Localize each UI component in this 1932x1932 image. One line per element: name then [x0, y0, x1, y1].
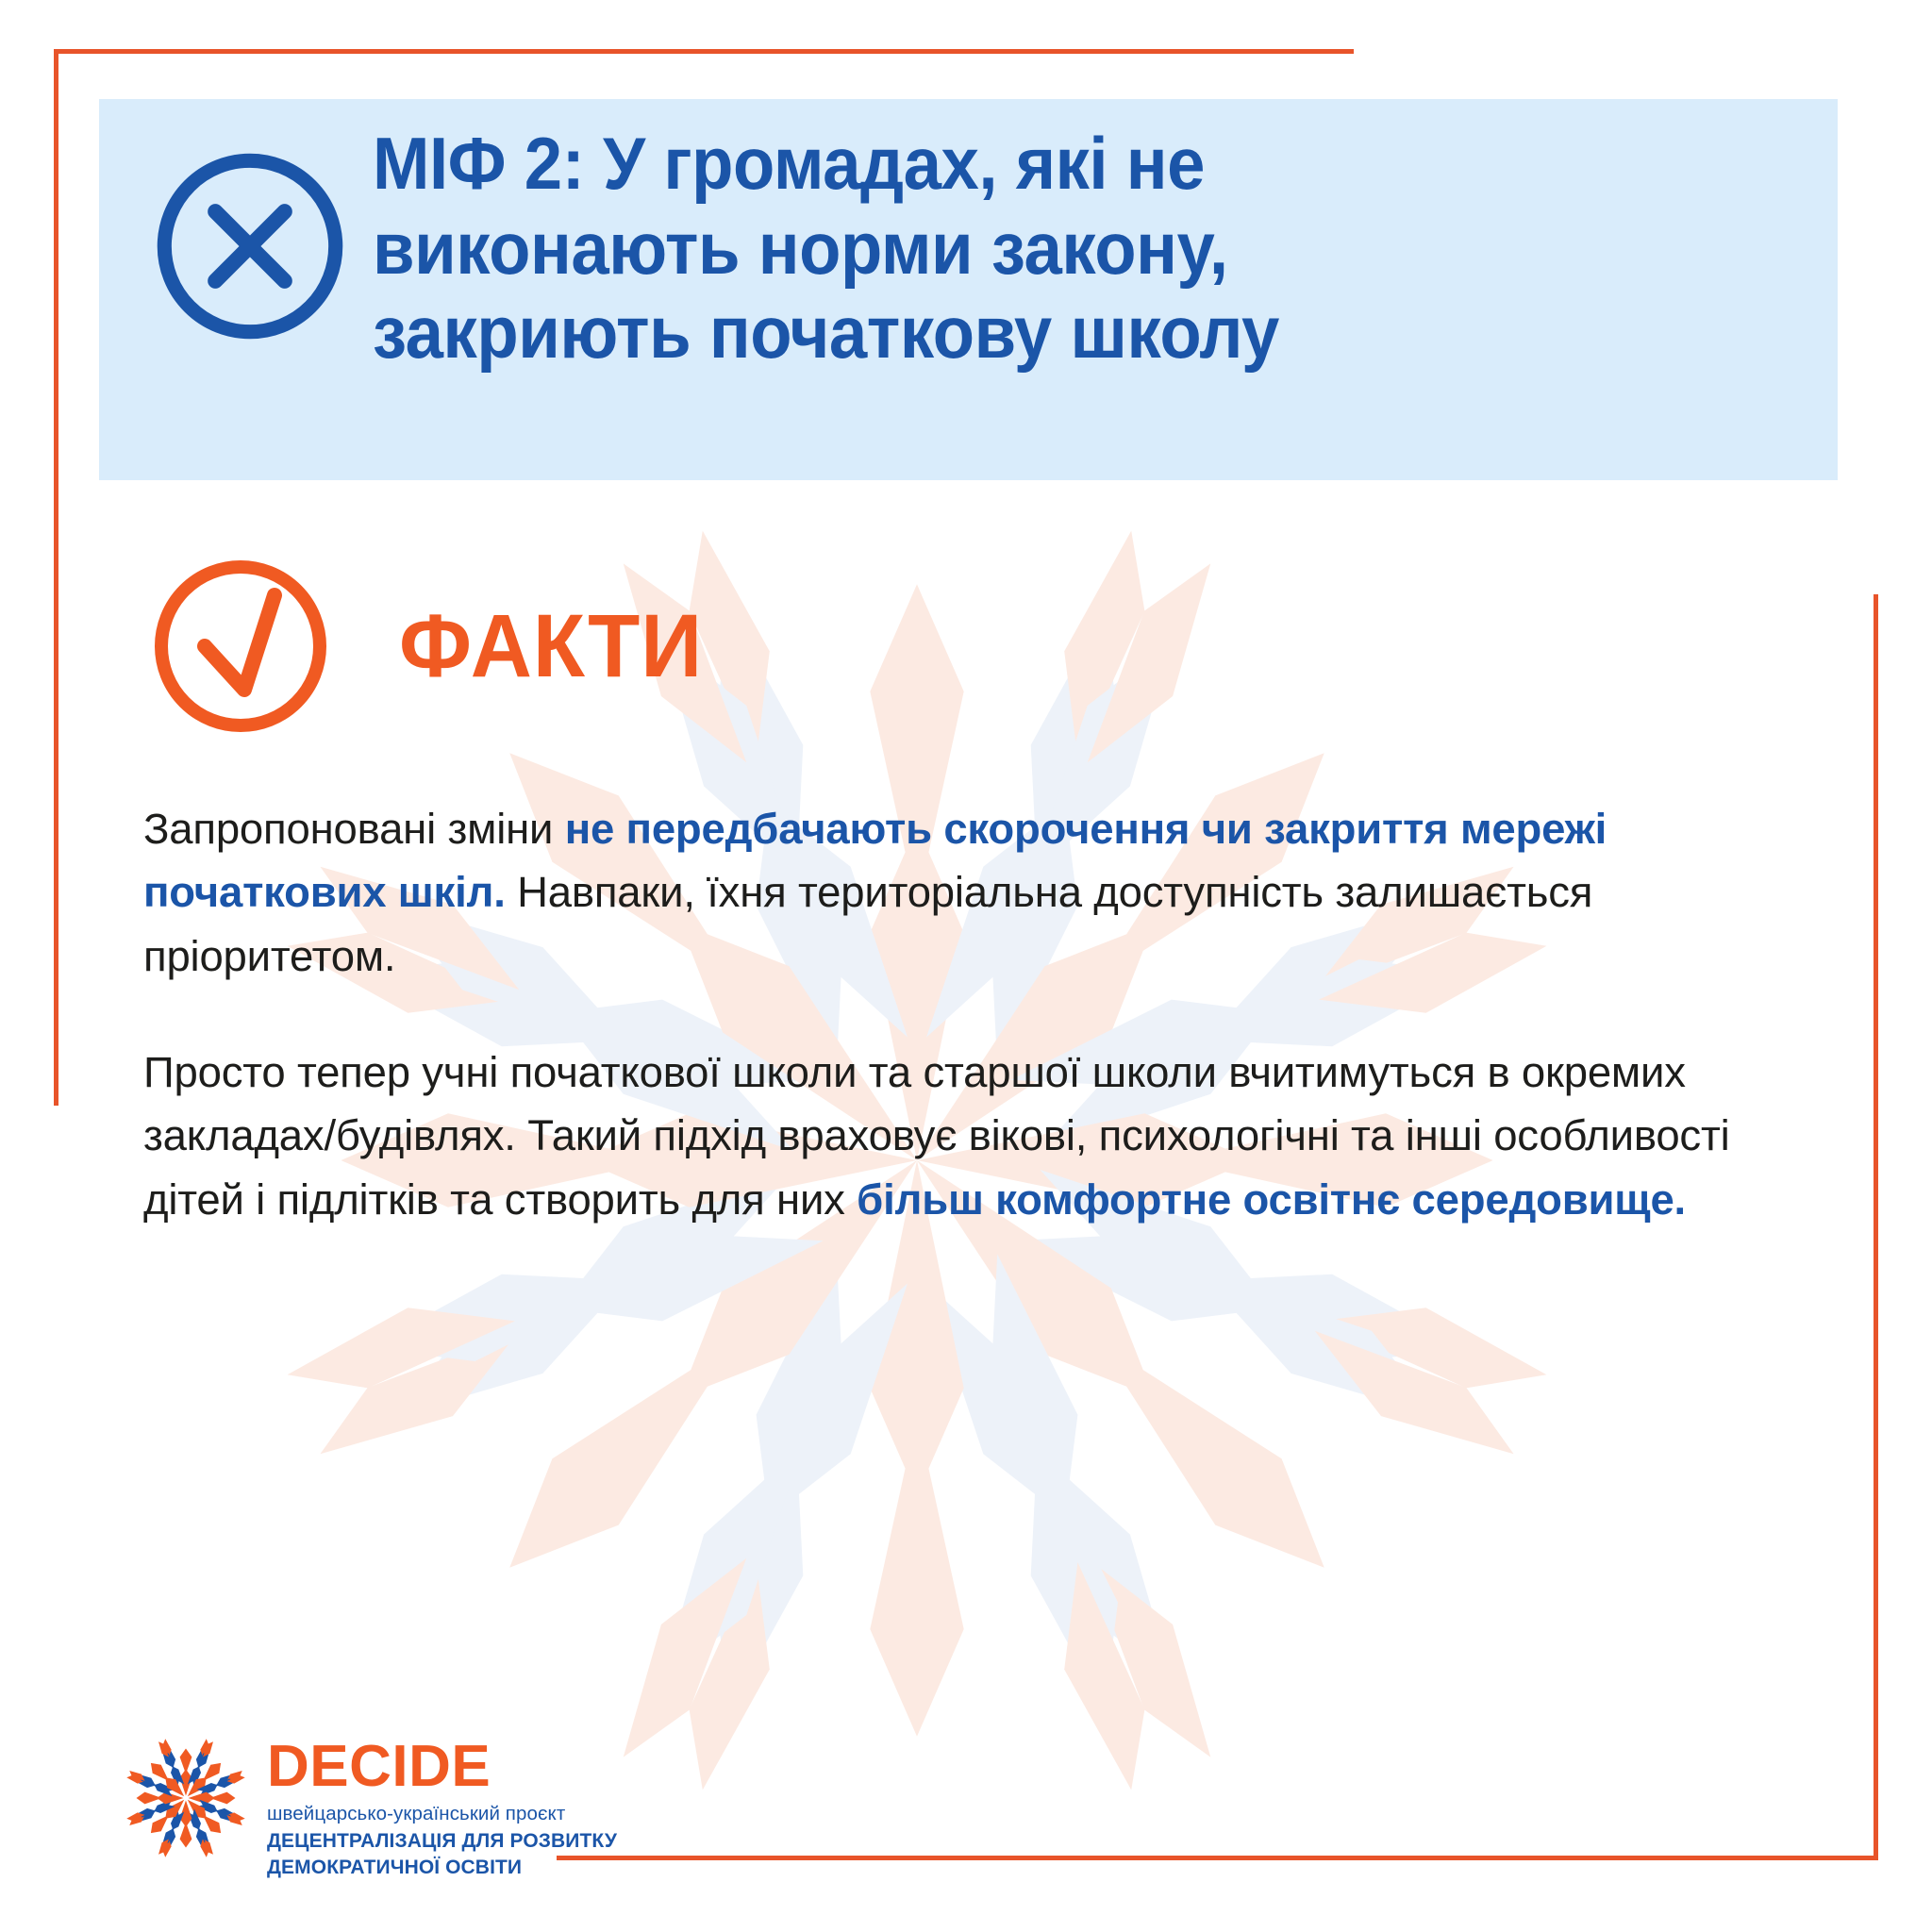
paragraph-2: Просто тепер учні початкової школи та ст…	[143, 1041, 1785, 1231]
frame-line-left	[54, 49, 58, 1106]
myth-title-panel: МІФ 2: У громадах, які не виконають норм…	[99, 99, 1838, 480]
logo-subtitle-line-1: швейцарсько-український проєкт	[267, 1802, 617, 1827]
myth-title-line-2: виконають норми закону,	[373, 207, 1707, 291]
circle-check-icon	[146, 552, 335, 741]
snowflake-ornament-icon	[125, 1738, 246, 1858]
logo-subtitle-line-2: ДЕЦЕНТРАЛІЗАЦІЯ ДЛЯ РОЗВИТКУ	[267, 1829, 617, 1855]
logo-subtitle-line-3: ДЕМОКРАТИЧНОЇ ОСВІТИ	[267, 1856, 617, 1881]
p1-seg-normal-1: Запропоновані зміни	[143, 805, 565, 853]
myth-title-text: МІФ 2: У громадах, які не виконають норм…	[373, 122, 1707, 375]
frame-line-top	[54, 49, 1354, 54]
infographic-page: МІФ 2: У громадах, які не виконають норм…	[0, 0, 1932, 1932]
facts-label: ФАКТИ	[399, 602, 703, 691]
circle-x-icon	[148, 144, 352, 348]
logo-wordmark: DECIDE швейцарсько-український проєкт ДЕ…	[267, 1734, 617, 1881]
myth-title-line-1: МІФ 2: У громадах, які не	[373, 122, 1707, 207]
frame-line-right	[1874, 594, 1878, 1860]
decide-logo: DECIDE швейцарсько-український проєкт ДЕ…	[125, 1734, 617, 1881]
frame-line-bottom	[557, 1856, 1878, 1860]
p2-seg-highlight: більш комфортне освітнє середовище.	[857, 1175, 1686, 1224]
logo-name: DECIDE	[267, 1740, 617, 1795]
paragraph-1: Запропоновані зміни не передбачають скор…	[143, 797, 1785, 988]
body-copy: Запропоновані зміни не передбачають скор…	[143, 797, 1785, 1231]
myth-title-line-3: закриють початкову школу	[373, 291, 1707, 375]
facts-heading-row: ФАКТИ	[146, 552, 719, 741]
